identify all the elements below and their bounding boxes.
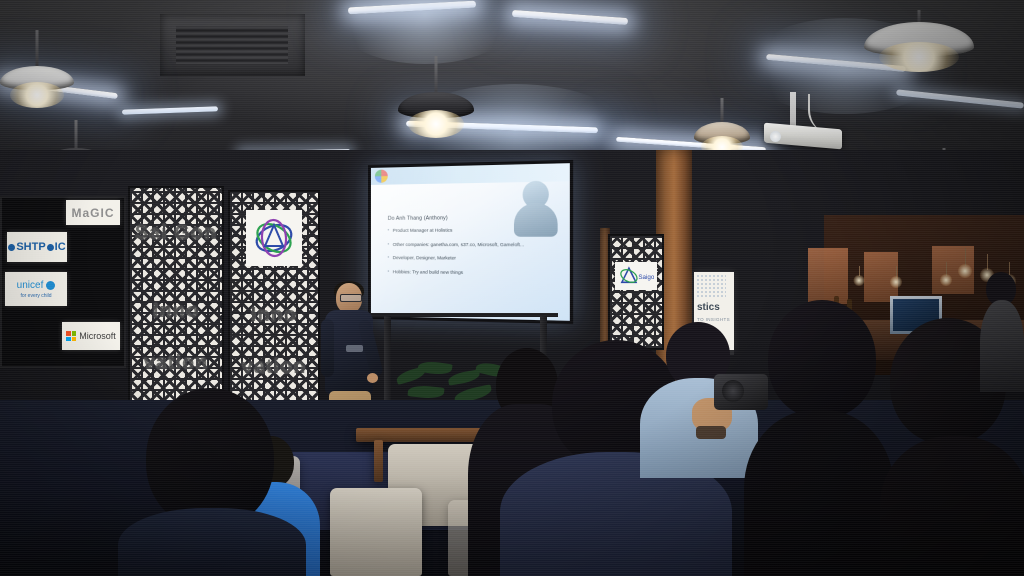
svg-text:Saigon: Saigon <box>638 274 654 281</box>
unicef-logo-text: unicef <box>17 280 44 291</box>
camera-lens-icon <box>722 380 744 402</box>
slide-surface: Do Anh Thang (Anthony) Product Manager a… <box>371 163 570 321</box>
pendant-lamp <box>864 10 974 76</box>
slide-bullet-4: Hobbies: Try and build new things <box>388 269 524 275</box>
banner-dot-pattern <box>696 274 726 298</box>
unicef-tagline: for every child <box>20 293 51 299</box>
screen-stand-bar <box>370 313 558 317</box>
presenter-shirt-logo <box>346 345 363 352</box>
slide-bullet-1: Product Manager at Holistics <box>388 227 524 233</box>
microsoft-logo-row: Microsoft <box>66 331 116 341</box>
presenter-arm-left <box>321 319 334 377</box>
audience-shoulders <box>880 436 1024 576</box>
unicef-globe-icon <box>46 281 55 290</box>
slide-speaker-name: Do Anh Thang (Anthony) <box>388 215 448 222</box>
audience-member-front-left <box>118 388 306 576</box>
panel-right-line-2: Inno <box>230 304 318 327</box>
slide-bullet-list: Product Manager at Holistics Other compa… <box>388 227 524 284</box>
panel-left-line-2: Inno <box>130 300 222 323</box>
bar-pendant-lamp <box>853 266 864 292</box>
presenter-glasses-icon <box>340 294 362 302</box>
audience-member-standing-right <box>980 272 1024 392</box>
audience-shoulders <box>744 410 894 576</box>
audience-head <box>768 300 876 418</box>
armchair <box>330 488 422 576</box>
saigon-innovation-hub-logo <box>246 210 302 266</box>
slide-bullet-3: Developer, Designer, Marketer <box>388 255 524 261</box>
saigon-logo-icon: Saigon <box>618 265 654 287</box>
pendant-lamp <box>0 30 74 116</box>
panel-left-line-1: Sai Gon <box>130 222 222 245</box>
ceiling-ac-vent-inner <box>176 26 288 64</box>
meetup-photo-scene: MaGIC SHTPIC unicef for every child Micr… <box>0 0 1024 576</box>
panel-right-line-3: vation <box>230 356 318 379</box>
projector-mount-arm <box>790 92 796 128</box>
magic-logo-text: MaGIC <box>71 206 114 220</box>
microsoft-logo: Microsoft <box>62 322 120 350</box>
projector-lens <box>770 131 781 142</box>
audience-shoulders <box>118 508 306 576</box>
wristwatch <box>696 426 726 439</box>
slide-bullet-2: Other companies: ganetha.com, s37.co, Mi… <box>388 241 524 246</box>
magic-logo: MaGIC <box>66 200 120 225</box>
shtp-logo-text: SHTPIC <box>8 241 65 253</box>
unicef-logo-row: unicef <box>17 280 56 291</box>
coffee-table-leg <box>374 440 383 482</box>
audience-member-right <box>744 300 894 576</box>
presenter-hand <box>367 373 378 383</box>
audience-shoulders <box>980 300 1024 392</box>
panel-left-line-3: vation <box>130 352 222 375</box>
bar-pendant-lamp <box>940 262 952 292</box>
pendant-lamp <box>398 56 474 148</box>
holistics-banner-title: stics <box>697 302 720 313</box>
bar-pendant-lamp <box>890 266 902 294</box>
audience-head <box>146 388 274 528</box>
unicef-logo: unicef for every child <box>5 272 67 306</box>
innovation-hub-triangle-icon <box>252 218 296 258</box>
bar-wall-panel <box>808 248 848 304</box>
projection-screen: Do Anh Thang (Anthony) Product Manager a… <box>368 160 573 324</box>
microsoft-logo-text: Microsoft <box>79 331 116 341</box>
shtp-dot-icon <box>8 244 15 251</box>
ceiling-projector <box>756 92 846 154</box>
shtp-dot-icon-2 <box>47 244 54 251</box>
shtp-ic-logo: SHTPIC <box>7 232 67 262</box>
bar-pendant-lamp <box>958 248 972 282</box>
microsoft-squares-icon <box>66 331 76 341</box>
saigon-banner-logo: Saigon <box>615 262 657 290</box>
